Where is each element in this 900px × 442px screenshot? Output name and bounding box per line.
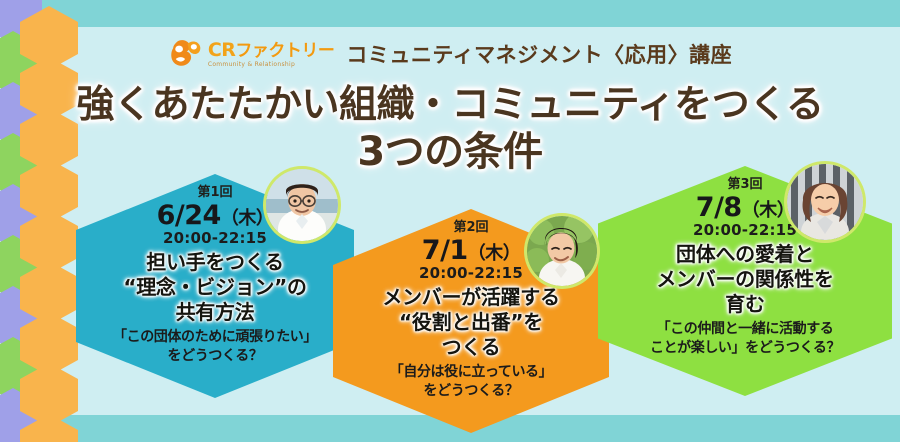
- session-subtitle-line: 「自分は役に立っている」: [333, 363, 609, 382]
- header: CRファクトリー Community & Relationship コミュニティ…: [0, 32, 900, 76]
- session-subtitle-line: 「この団体のために頑張りたい」: [76, 328, 354, 347]
- session-subtitle-line: ことが楽しい」をどうつくる？: [598, 339, 892, 358]
- session-heading-line: “役割と出番”を: [333, 310, 609, 335]
- cr-factory-logo: CRファクトリー Community & Relationship: [168, 38, 335, 70]
- session-day-of-week: （木）: [221, 208, 274, 229]
- session-day-of-week: （木）: [468, 243, 521, 264]
- session-date-value: 6/24: [157, 200, 221, 231]
- session-heading-line: メンバーが活躍する: [333, 285, 609, 310]
- session-heading-line: 担い手をつくる: [76, 250, 354, 275]
- speaker-2-avatar: [527, 216, 597, 286]
- title-line-1: 強くあたたかい組織・コミュニティをつくる: [0, 82, 900, 127]
- session-subtitle-line: をどうつくる？: [333, 382, 609, 401]
- session-heading-line: つくる: [333, 335, 609, 360]
- speaker-3-avatar: [787, 164, 863, 240]
- session-subtitle-line: 「この仲間と一緒に活動する: [598, 320, 892, 339]
- session-subtitle: 「この仲間と一緒に活動する ことが楽しい」をどうつくる？: [598, 320, 892, 358]
- logo-name: CRファクトリー: [208, 41, 335, 60]
- logo-tagline: Community & Relationship: [208, 62, 295, 68]
- session-date-value: 7/8: [696, 192, 742, 223]
- session-heading-line: 育む: [598, 292, 892, 317]
- top-band: [0, 0, 900, 27]
- session-date-value: 7/1: [422, 235, 468, 266]
- session-heading-line: 団体への愛着と: [598, 242, 892, 267]
- session-heading: 担い手をつくる “理念・ビジョン”の 共有方法: [76, 250, 354, 326]
- banner-canvas: CRファクトリー Community & Relationship コミュニティ…: [0, 0, 900, 442]
- session-heading: 団体への愛着と メンバーの関係性を 育む: [598, 242, 892, 318]
- main-title: 強くあたたかい組織・コミュニティをつくる 3つの条件: [0, 82, 900, 176]
- course-title: コミュニティマネジメント〈応用〉講座: [346, 39, 732, 69]
- session-heading-line: メンバーの関係性を: [598, 267, 892, 292]
- speaker-1-avatar: [266, 169, 338, 241]
- session-heading: メンバーが活躍する “役割と出番”を つくる: [333, 285, 609, 361]
- session-subtitle: 「この団体のために頑張りたい」 をどうつくる？: [76, 328, 354, 366]
- logo-wordmark: CRファクトリー Community & Relationship: [208, 41, 335, 68]
- title-line-2: 3つの条件: [0, 129, 900, 176]
- session-subtitle-line: をどうつくる？: [76, 347, 354, 366]
- session-heading-line: 共有方法: [76, 300, 354, 325]
- session-heading-line: “理念・ビジョン”の: [76, 275, 354, 300]
- session-subtitle: 「自分は役に立っている」 をどうつくる？: [333, 363, 609, 401]
- cr-bird-logo-icon: [168, 38, 202, 70]
